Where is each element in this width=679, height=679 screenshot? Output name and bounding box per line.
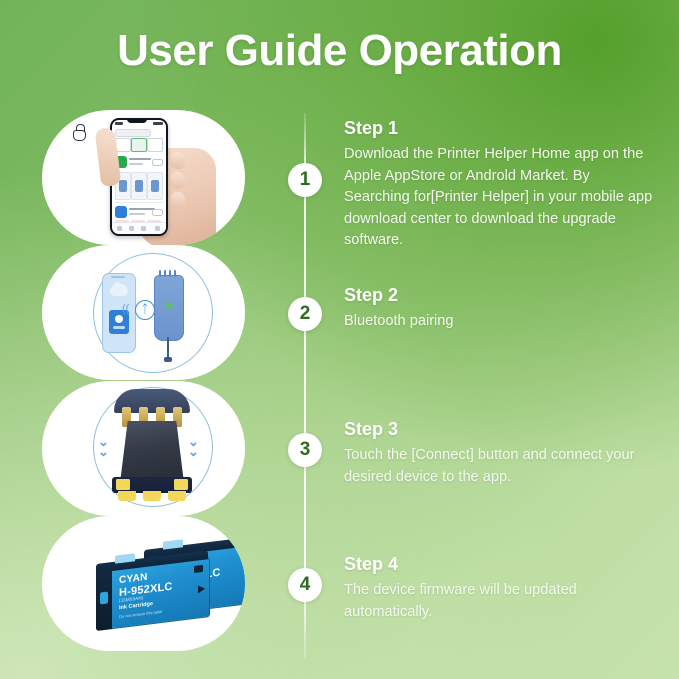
step-text-3: Step 3 Touch the [Connect] button and co… <box>344 419 659 488</box>
step-text-1: Step 1 Download the Printer Helper Home … <box>344 118 659 252</box>
step-image-card-2: (( ᛏ )) <box>42 245 245 380</box>
step-text-4: Step 4 The device firmware will be updat… <box>344 554 659 623</box>
phone-notch <box>127 118 147 123</box>
step-title-2: Step 2 <box>344 285 659 306</box>
cloud-icon <box>110 286 128 296</box>
finger-2 <box>170 172 185 189</box>
cable-connector <box>164 357 172 362</box>
app-name-line <box>129 158 151 160</box>
tab-chip-2-selected[interactable] <box>131 138 147 152</box>
phone-speaker <box>111 276 125 278</box>
app-get-button[interactable] <box>152 159 163 166</box>
chevron-down-right-icon: ⌄⌄ <box>188 437 199 457</box>
yellow-tab-2 <box>143 491 161 501</box>
chevron-down-left-icon: ⌄⌄ <box>98 437 109 457</box>
step-title-1: Step 1 <box>344 118 659 139</box>
tab-apps[interactable] <box>141 226 146 231</box>
cartridge-warning: Do not remove this label <box>119 609 162 619</box>
dongle-status-led <box>165 302 173 310</box>
step-image-card-3: ⌄⌄ ⌄⌄ <box>42 381 245 516</box>
tab-games[interactable] <box>129 226 134 231</box>
status-battery-icon <box>153 122 163 125</box>
screenshot-art <box>119 180 127 192</box>
screenshot-art <box>151 180 159 192</box>
app-name-line <box>129 208 155 210</box>
connector-body <box>120 421 184 483</box>
cartridge-chip <box>194 565 203 573</box>
dongle-pin-3 <box>169 270 171 277</box>
list-divider <box>115 202 163 203</box>
step-body-4: The device firmware will be updated auto… <box>344 580 659 623</box>
step-title-4: Step 4 <box>344 554 659 575</box>
cartridge-side-panel <box>96 569 112 631</box>
ink-cartridges-illustration: CYAN H-952XLC (J3M59AN) Ink Cartridge Do… <box>42 516 245 651</box>
user-guide-poster: User Guide Operation <box>0 0 679 679</box>
cartridge-port <box>100 592 108 605</box>
step-image-card-4: CYAN H-952XLC (J3M59AN) Ink Cartridge Do… <box>42 516 245 651</box>
bluetooth-icon: ᛏ <box>135 300 155 320</box>
step-image-card-1 <box>42 110 245 245</box>
yellow-tab-1 <box>118 491 136 501</box>
app-get-button[interactable] <box>152 209 163 216</box>
yellow-tab-3 <box>168 491 186 501</box>
phone-device <box>102 273 136 353</box>
dongle-cable <box>167 337 169 359</box>
step-number-1: 1 <box>288 163 322 197</box>
dongle-pin-4 <box>174 270 176 277</box>
yellow-tab-group <box>118 491 186 501</box>
app-sub-line <box>129 213 145 215</box>
contact-pad-left <box>116 479 130 490</box>
step-number-3: 3 <box>288 433 322 467</box>
phone-tab-bar <box>112 222 166 234</box>
app-screenshot-strip <box>115 172 163 198</box>
screenshot-art <box>135 180 143 192</box>
finger-3 <box>170 192 185 209</box>
contact-pad-right <box>174 479 188 490</box>
dongle-pin-2 <box>164 270 166 277</box>
tab-search[interactable] <box>155 226 160 231</box>
tab-chip-1[interactable] <box>115 138 131 152</box>
status-time <box>115 122 123 125</box>
app-search-input[interactable] <box>115 129 151 137</box>
tab-today[interactable] <box>117 226 122 231</box>
direction-arrow-icon <box>198 585 205 594</box>
step-number-2: 2 <box>288 297 322 331</box>
step-title-3: Step 3 <box>344 419 659 440</box>
screenshot-3 <box>147 172 163 200</box>
step-body-1: Download the Printer Helper Home app on … <box>344 144 659 252</box>
chip-connector-illustration: ⌄⌄ ⌄⌄ <box>42 381 245 516</box>
finger-1 <box>170 152 185 169</box>
app-sub-line <box>129 163 143 165</box>
step-body-2: Bluetooth pairing <box>344 311 659 333</box>
cartridge-chip <box>242 551 245 559</box>
step-number-4: 4 <box>288 568 322 602</box>
dongle-pin-1 <box>159 270 161 277</box>
step-body-3: Touch the [Connect] button and connect y… <box>344 445 659 488</box>
ink-cartridge-front: CYAN H-952XLC (J3M59AN) Ink Cartridge Do… <box>96 557 210 631</box>
download-arrow-icon <box>115 315 123 323</box>
app-result-row-1[interactable] <box>115 156 163 168</box>
page-title: User Guide Operation <box>0 26 679 76</box>
bluetooth-pairing-illustration: (( ᛏ )) <box>42 245 245 380</box>
app-icon-blue <box>115 206 127 218</box>
app-result-row-2[interactable] <box>115 206 163 218</box>
tap-cursor-icon <box>73 124 86 140</box>
bluetooth-dongle-device <box>154 275 184 341</box>
app-tab-chips <box>115 138 163 150</box>
hand-holding-phone-illustration <box>42 110 245 245</box>
screenshot-2 <box>131 172 147 200</box>
tab-chip-3[interactable] <box>147 138 163 152</box>
signal-wave-left-icon: (( <box>122 302 129 316</box>
progress-bar <box>113 326 125 329</box>
step-text-2: Step 2 Bluetooth pairing <box>344 285 659 333</box>
